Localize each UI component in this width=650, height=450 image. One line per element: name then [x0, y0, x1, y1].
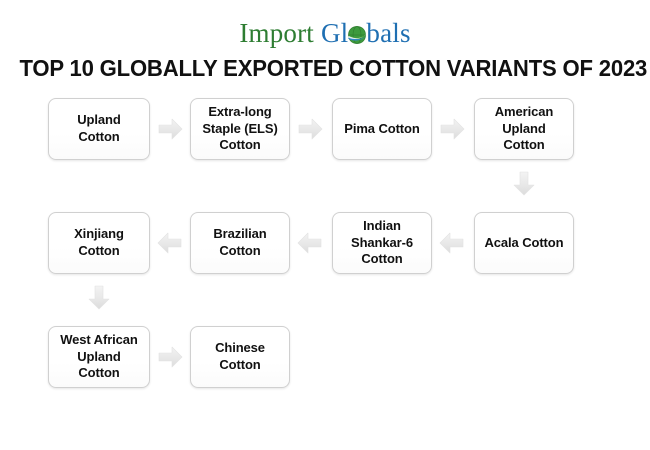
- flowchart: Upland CottonExtra-long Staple (ELS) Cot…: [0, 0, 650, 450]
- flow-node-label: Xinjiang Cotton: [74, 226, 124, 259]
- flow-node-west-african-upland-cotton[interactable]: West African Upland Cotton: [48, 326, 150, 388]
- flow-node-xinjiang-cotton[interactable]: Xinjiang Cotton: [48, 212, 150, 274]
- flow-node-acala-cotton[interactable]: Acala Cotton: [474, 212, 574, 274]
- flow-node-label: Acala Cotton: [485, 235, 564, 252]
- flow-arrow-right-icon: [157, 344, 183, 370]
- flow-node-label: Brazilian Cotton: [213, 226, 266, 259]
- flow-node-pima-cotton[interactable]: Pima Cotton: [332, 98, 432, 160]
- flow-arrow-right-icon: [439, 116, 465, 142]
- flow-node-label: Indian Shankar-6 Cotton: [351, 218, 413, 268]
- flow-arrow-left-icon: [297, 230, 323, 256]
- flow-node-american-upland-cotton[interactable]: American Upland Cotton: [474, 98, 574, 160]
- flow-node-upland-cotton[interactable]: Upland Cotton: [48, 98, 150, 160]
- flow-arrow-left-icon: [439, 230, 465, 256]
- flow-node-label: West African Upland Cotton: [55, 332, 143, 382]
- flow-arrow-right-icon: [157, 116, 183, 142]
- flow-arrow-down-icon: [86, 284, 112, 310]
- flow-node-label: Chinese Cotton: [215, 340, 265, 373]
- flow-node-label: Extra-long Staple (ELS) Cotton: [202, 104, 277, 154]
- flow-node-label: Upland Cotton: [55, 112, 143, 145]
- flow-node-label: American Upland Cotton: [481, 104, 567, 154]
- flow-arrow-down-icon: [511, 170, 537, 196]
- flow-node-indian-shankar-6-cotton[interactable]: Indian Shankar-6 Cotton: [332, 212, 432, 274]
- flow-arrow-right-icon: [297, 116, 323, 142]
- flow-node-brazilian-cotton[interactable]: Brazilian Cotton: [190, 212, 290, 274]
- flow-node-label: Pima Cotton: [344, 121, 419, 138]
- flow-arrow-left-icon: [157, 230, 183, 256]
- flow-node-chinese-cotton[interactable]: Chinese Cotton: [190, 326, 290, 388]
- flow-node-extra-long-staple-els-cotton[interactable]: Extra-long Staple (ELS) Cotton: [190, 98, 290, 160]
